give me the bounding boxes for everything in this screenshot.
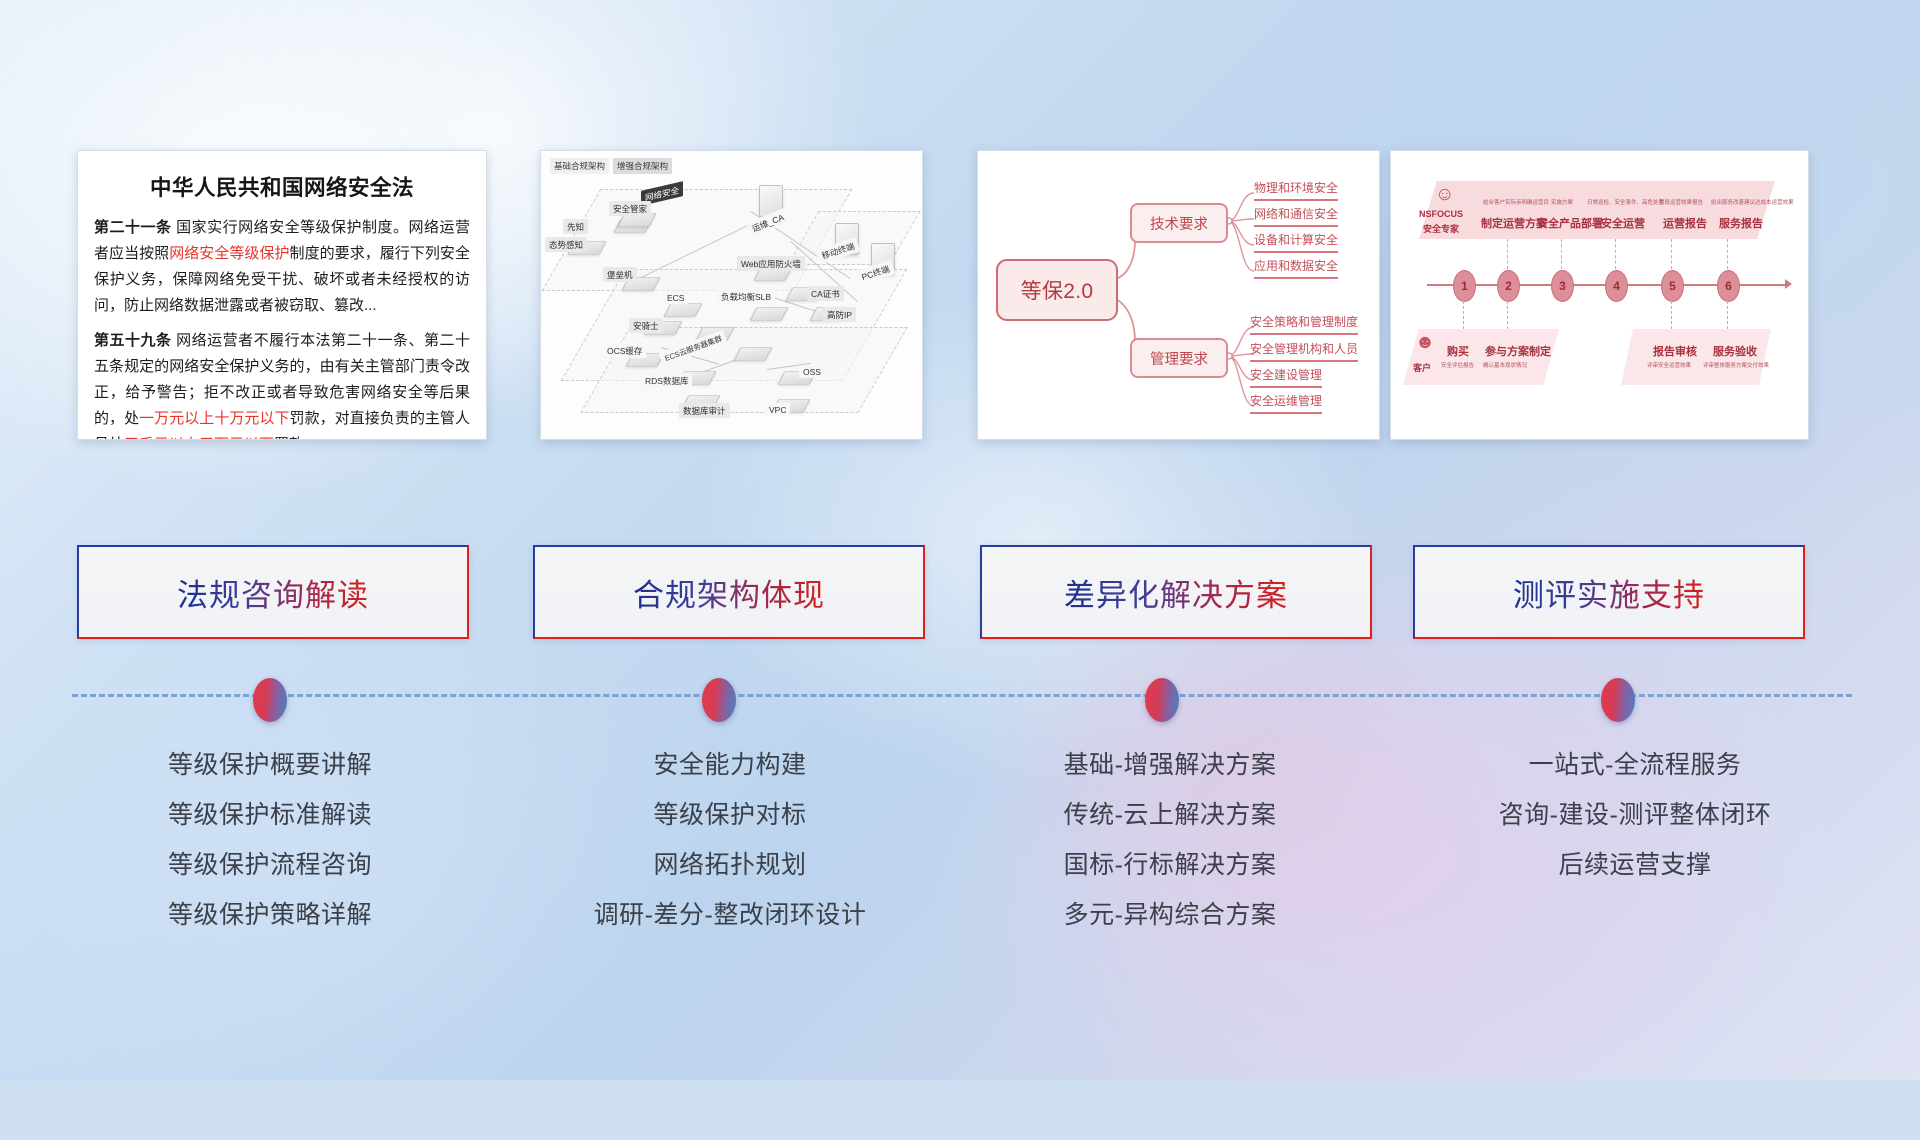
timeline-marker-1 xyxy=(253,678,287,722)
law-paragraph-21: 第二十一条 国家实行网络安全等级保护制度。网络运营者应当按照网络安全等级保护制度… xyxy=(94,215,470,319)
detail-list-2: 安全能力构建 等级保护对标 网络拓扑规划 调研-差分-整改闭环设计 xyxy=(520,740,940,940)
node-label-agent: 安骑士 xyxy=(629,318,663,333)
flow-step-dot-5: 5 xyxy=(1661,270,1684,302)
flow-provider-label-line2: 安全专家 xyxy=(1423,222,1459,235)
flow-step-title-5: 运营报告 xyxy=(1663,215,1707,231)
node-label-ecs: ECS xyxy=(663,291,688,304)
section-title-box-4[interactable]: 测评实施支持 xyxy=(1413,545,1805,639)
mindmap-leaf-tech-1: 网络和通信安全 xyxy=(1254,205,1338,227)
customer-avatar-icon: ☻ xyxy=(1415,333,1435,352)
flow-step-dot-1: 1 xyxy=(1453,270,1476,302)
tab-basic-compliance[interactable]: 基础合规架构 xyxy=(550,158,609,174)
flow-connector-3 xyxy=(1561,239,1563,269)
list-item: 等级保护标准解读 xyxy=(60,790,480,840)
flow-step-bottom-sub-1: 安全评估报告 xyxy=(1441,361,1474,369)
list-item: 咨询-建设-测评整体闭环 xyxy=(1400,790,1870,840)
mindmap-branch-technical: 技术要求 xyxy=(1130,203,1228,243)
flow-step-dot-6: 6 xyxy=(1717,270,1740,302)
section-title-label-2: 合规架构体现 xyxy=(633,570,825,615)
architecture-tab-group: 基础合规架构 增强合规架构 xyxy=(550,158,672,174)
section-title-box-3[interactable]: 差异化解决方案 xyxy=(980,545,1372,639)
node-label-ocs-cache: OCS缓存 xyxy=(603,343,646,358)
mindmap-root-node: 等保2.0 xyxy=(996,259,1118,321)
law-article-21-label: 第二十一条 xyxy=(94,219,171,236)
node-label-rds: RDS数据库 xyxy=(641,373,692,388)
section-title-label-3: 差异化解决方案 xyxy=(1064,570,1288,615)
law-text-card: 中华人民共和国网络安全法 第二十一条 国家实行网络安全等级保护制度。网络运营者应… xyxy=(77,150,487,440)
section-title-label-4: 测评实施支持 xyxy=(1513,570,1705,615)
nsfocus-service-flow: ☺ NSFOCUS 安全专家 ☻ 客户 1 2 3 4 5 6 xyxy=(1391,151,1808,439)
section-title-box-2[interactable]: 合规架构体现 xyxy=(533,545,925,639)
flow-timeline-arrow-icon xyxy=(1785,279,1792,289)
node-label-xianzhi: 先知 xyxy=(563,219,588,234)
list-item: 国标-行标解决方案 xyxy=(960,840,1380,890)
detail-list-3: 基础-增强解决方案 传统-云上解决方案 国标-行标解决方案 多元-异构综合方案 xyxy=(960,740,1380,940)
list-item: 多元-异构综合方案 xyxy=(960,890,1380,940)
mindmap-leaf-tech-2: 设备和计算安全 xyxy=(1254,231,1338,253)
node-label-db-audit: 数据库审计 xyxy=(679,403,730,418)
flow-provider-label-line1: NSFOCUS xyxy=(1419,209,1463,219)
list-item: 等级保护概要讲解 xyxy=(60,740,480,790)
flow-step-title-6: 服务报告 xyxy=(1719,215,1763,231)
flow-step-dot-4: 4 xyxy=(1605,270,1628,302)
node-label-bastion-host: 堡垒机 xyxy=(603,267,637,282)
mindmap-leaf-mgmt-3: 安全运维管理 xyxy=(1250,392,1322,414)
service-flow-card: ☺ NSFOCUS 安全专家 ☻ 客户 1 2 3 4 5 6 xyxy=(1390,150,1809,440)
list-item: 网络拓扑规划 xyxy=(520,840,940,890)
flow-step-sub-5: 阶段运营效果报告 xyxy=(1659,198,1703,206)
law-article-59-label: 第五十九条 xyxy=(94,332,171,349)
flow-connector-b1 xyxy=(1463,301,1465,329)
node-cube-ecs-3 xyxy=(733,347,772,361)
section-detail-row: 等级保护概要讲解 等级保护标准解读 等级保护流程咨询 等级保护策略详解 安全能力… xyxy=(0,740,1920,970)
flow-step-bottom-6: 服务验收 xyxy=(1713,343,1757,359)
detail-list-1: 等级保护概要讲解 等级保护标准解读 等级保护流程咨询 等级保护策略详解 xyxy=(60,740,480,940)
mindmap-leaf-mgmt-0: 安全策略和管理制度 xyxy=(1250,313,1358,335)
list-item: 等级保护对标 xyxy=(520,790,940,840)
list-item: 等级保护流程咨询 xyxy=(60,840,480,890)
flow-step-sub-3: 实施方案 xyxy=(1551,198,1573,206)
flow-step-title-4: 安全运营 xyxy=(1601,215,1645,231)
flow-step-sub-4: 日常巡检、安全事件、高危处置 xyxy=(1587,198,1664,206)
node-label-vpc: VPC xyxy=(765,403,790,416)
flow-connector-b6 xyxy=(1727,301,1729,329)
detail-list-4: 一站式-全流程服务 咨询-建设-测评整体闭环 后续运营支撑 xyxy=(1400,740,1870,890)
flow-connector-5 xyxy=(1671,239,1673,269)
law-card-body: 中华人民共和国网络安全法 第二十一条 国家实行网络安全等级保护制度。网络运营者应… xyxy=(78,151,486,439)
flow-connector-b5 xyxy=(1671,301,1673,329)
timeline-dashed-line xyxy=(72,694,1852,697)
timeline-marker-2 xyxy=(702,678,736,722)
node-label-security-steward: 安全管家 xyxy=(609,201,651,216)
slide-stage: 中华人民共和国网络安全法 第二十一条 国家实行网络安全等级保护制度。网络运营者应… xyxy=(0,0,1920,1080)
flow-step-bottom-2: 参与方案制定 xyxy=(1485,343,1551,359)
list-item: 等级保护策略详解 xyxy=(60,890,480,940)
section-title-box-1[interactable]: 法规咨询解读 xyxy=(77,545,469,639)
law-21-run-1-highlight: 网络安全等级保护 xyxy=(169,245,289,262)
illustration-card-row: 中华人民共和国网络安全法 第二十一条 国家实行网络安全等级保护制度。网络运营者应… xyxy=(0,150,1920,440)
flow-step-bottom-sub-2: 确认基本现状情况 xyxy=(1483,361,1527,369)
mindmap-card: 等保2.0 技术要求 物理和环境安全 网络和通信安全 设备和计算安全 应用和数据… xyxy=(977,150,1380,440)
flow-step-sub-6: 给出服务改善建议达成本运营效果 xyxy=(1711,198,1794,206)
law-59-run-4: 罚款。 xyxy=(274,436,319,440)
tab-enhanced-compliance[interactable]: 增强合规架构 xyxy=(613,158,672,174)
list-item: 后续运营支撑 xyxy=(1400,840,1870,890)
mindmap-leaf-mgmt-2: 安全建设管理 xyxy=(1250,366,1322,388)
law-paragraph-59: 第五十九条 网络运营者不履行本法第二十一条、第二十五条规定的网络安全保护义务的，… xyxy=(94,328,470,440)
flow-step-dot-2: 2 xyxy=(1497,270,1520,302)
list-item: 一站式-全流程服务 xyxy=(1400,740,1870,790)
law-title: 中华人民共和国网络安全法 xyxy=(94,171,470,202)
architecture-diagram: 基础合规架构 增强合规架构 xyxy=(541,151,922,439)
mindmap-leaf-mgmt-1: 安全管理机构和人员 xyxy=(1250,340,1358,362)
list-item: 传统-云上解决方案 xyxy=(960,790,1380,840)
section-title-row: 法规咨询解读 合规架构体现 差异化解决方案 测评实施支持 xyxy=(0,545,1920,643)
flow-step-bottom-sub-5: 评审安全运营效果 xyxy=(1647,361,1691,369)
flow-step-bottom-1: 购买 xyxy=(1447,343,1469,359)
node-cube-slb xyxy=(749,307,788,321)
timeline-marker-3 xyxy=(1145,678,1179,722)
timeline-marker-4 xyxy=(1601,678,1635,722)
flow-customer-label: 客户 xyxy=(1413,361,1431,374)
dengbao-mindmap: 等保2.0 技术要求 物理和环境安全 网络和通信安全 设备和计算安全 应用和数据… xyxy=(978,151,1379,439)
node-label-ca-cert: CA证书 xyxy=(807,286,844,301)
mindmap-leaf-tech-0: 物理和环境安全 xyxy=(1254,179,1338,201)
flow-step-title-3: 安全产品部署 xyxy=(1537,215,1603,231)
node-label-oss: OSS xyxy=(799,365,825,378)
list-item: 安全能力构建 xyxy=(520,740,940,790)
node-label-situation-awareness: 态势感知 xyxy=(545,237,587,252)
flow-connector-6 xyxy=(1727,239,1729,269)
mindmap-leaf-tech-3: 应用和数据安全 xyxy=(1254,257,1338,279)
flow-step-sub-2: 结合客户实际诉明确运营目 xyxy=(1483,198,1549,206)
node-label-waf: Web应用防火墙 xyxy=(737,256,805,271)
list-item: 调研-差分-整改闭环设计 xyxy=(520,890,940,940)
section-title-label-1: 法规咨询解读 xyxy=(177,570,369,615)
node-cube-ecs xyxy=(663,303,702,317)
flow-step-dot-3: 3 xyxy=(1551,270,1574,302)
flow-connector-b2 xyxy=(1507,301,1509,329)
flow-connector-4 xyxy=(1615,239,1617,269)
flow-step-bottom-sub-6: 评审整体服务方案交付效果 xyxy=(1703,361,1769,369)
law-59-run-1-highlight: 一万元以上十万元以下 xyxy=(139,410,289,427)
flow-step-bottom-5: 报告审核 xyxy=(1653,343,1697,359)
list-item: 基础-增强解决方案 xyxy=(960,740,1380,790)
timeline-row xyxy=(0,668,1920,724)
flow-connector-2 xyxy=(1507,239,1509,269)
law-59-run-3-highlight: 五千元以上五万元以下 xyxy=(124,436,274,440)
cloud-architecture-card: 基础合规架构 增强合规架构 xyxy=(540,150,923,440)
node-label-slb: 负载均衡SLB xyxy=(717,289,775,304)
mindmap-branch-management: 管理要求 xyxy=(1130,338,1228,378)
expert-avatar-icon: ☺ xyxy=(1435,185,1454,204)
node-label-high-defense-ip: 高防IP xyxy=(823,307,856,322)
